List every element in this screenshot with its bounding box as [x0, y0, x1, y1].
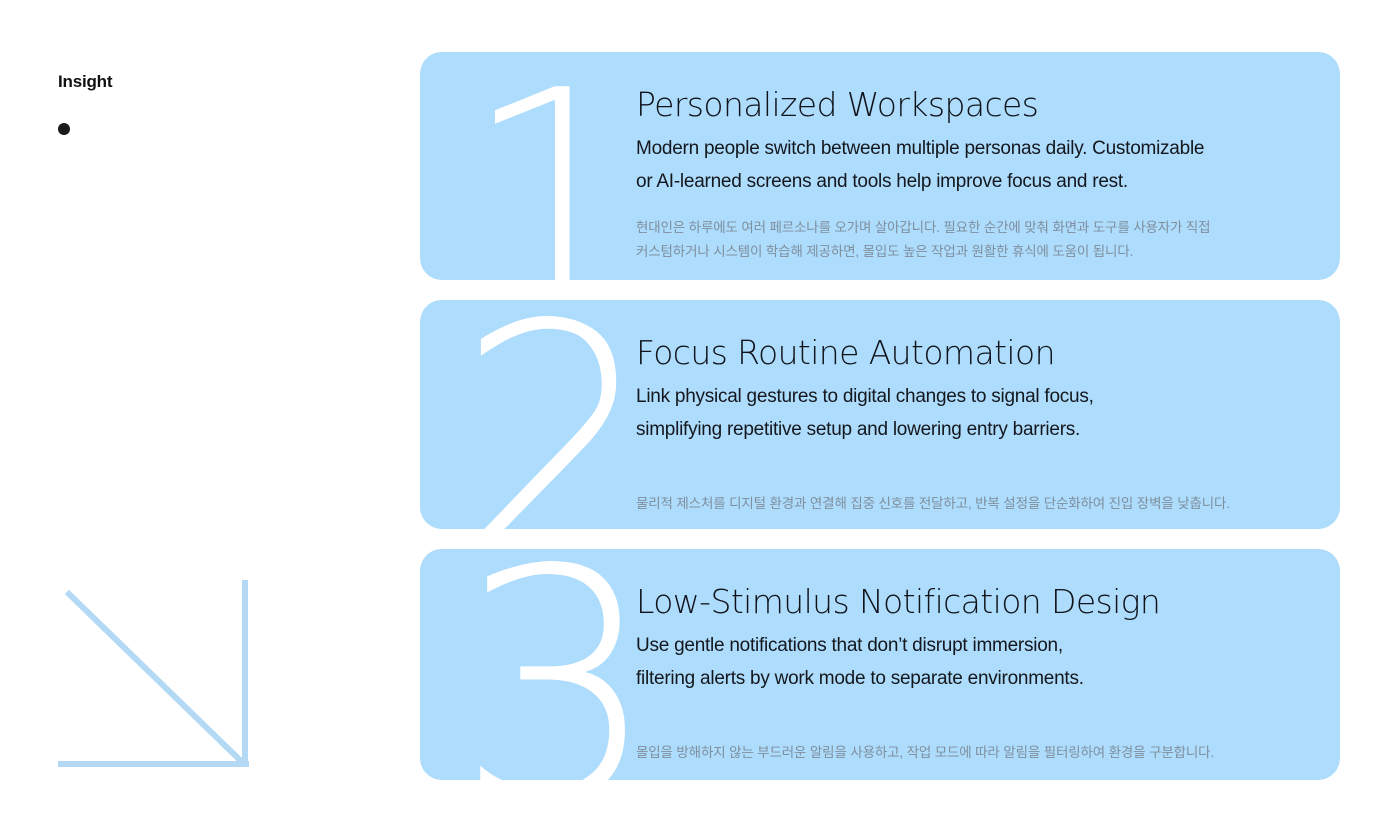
card-number-watermark: 1: [462, 78, 647, 280]
card-body-line: or AI-learned screens and tools help imp…: [636, 165, 1318, 198]
card-content: Low-Stimulus Notification Design Use gen…: [636, 583, 1318, 765]
card-body-line: Modern people switch between multiple pe…: [636, 132, 1318, 165]
card-subtext-line: 몰입을 방해하지 않는 부드러운 알림을 사용하고, 작업 모드에 따라 알림을…: [636, 741, 1318, 765]
card-number-watermark: 2: [456, 318, 652, 529]
card-body-text: Use gentle notifications that don’t disr…: [636, 629, 1318, 695]
card-body-line: Use gentle notifications that don’t disr…: [636, 629, 1318, 662]
card-subtext-line: 커스텀하거나 시스템이 학습해 제공하면, 몰입도 높은 작업과 원활한 휴식에…: [636, 240, 1318, 264]
card-body-line: simplifying repetitive setup and lowerin…: [636, 413, 1318, 446]
sidebar: Insight: [0, 0, 420, 829]
card-subtext-line: 물리적 제스처를 디지털 환경과 연결해 집중 신호를 전달하고, 반복 설정을…: [636, 492, 1318, 516]
card-subtext: 몰입을 방해하지 않는 부드러운 알림을 사용하고, 작업 모드에 따라 알림을…: [636, 741, 1318, 765]
bullet-dot-icon: [58, 123, 70, 135]
arrow-down-right-icon: [55, 575, 265, 780]
insight-card-list: 1 Personalized Workspaces Modern people …: [420, 52, 1340, 780]
card-heading: Focus Routine Automation: [636, 334, 1318, 372]
insight-card[interactable]: 2 Focus Routine Automation Link physical…: [420, 300, 1340, 529]
card-body-line: Link physical gestures to digital change…: [636, 380, 1318, 413]
card-body-text: Modern people switch between multiple pe…: [636, 132, 1318, 198]
card-subtext-line: 현대인은 하루에도 여러 페르소나를 오가며 살아갑니다. 필요한 순간에 맞춰…: [636, 216, 1318, 240]
card-subtext: 현대인은 하루에도 여러 페르소나를 오가며 살아갑니다. 필요한 순간에 맞춰…: [636, 216, 1318, 264]
card-number-watermark: 3: [456, 563, 652, 780]
card-content: Personalized Workspaces Modern people sw…: [636, 86, 1318, 264]
insight-card[interactable]: 3 Low-Stimulus Notification Design Use g…: [420, 549, 1340, 780]
page-title: Insight: [58, 70, 112, 94]
card-body-line: filtering alerts by work mode to separat…: [636, 662, 1318, 695]
card-subtext: 물리적 제스처를 디지털 환경과 연결해 집중 신호를 전달하고, 반복 설정을…: [636, 492, 1318, 516]
card-content: Focus Routine Automation Link physical g…: [636, 334, 1318, 516]
card-heading: Personalized Workspaces: [636, 86, 1318, 124]
insight-card[interactable]: 1 Personalized Workspaces Modern people …: [420, 52, 1340, 280]
card-body-text: Link physical gestures to digital change…: [636, 380, 1318, 446]
card-heading: Low-Stimulus Notification Design: [636, 583, 1318, 621]
